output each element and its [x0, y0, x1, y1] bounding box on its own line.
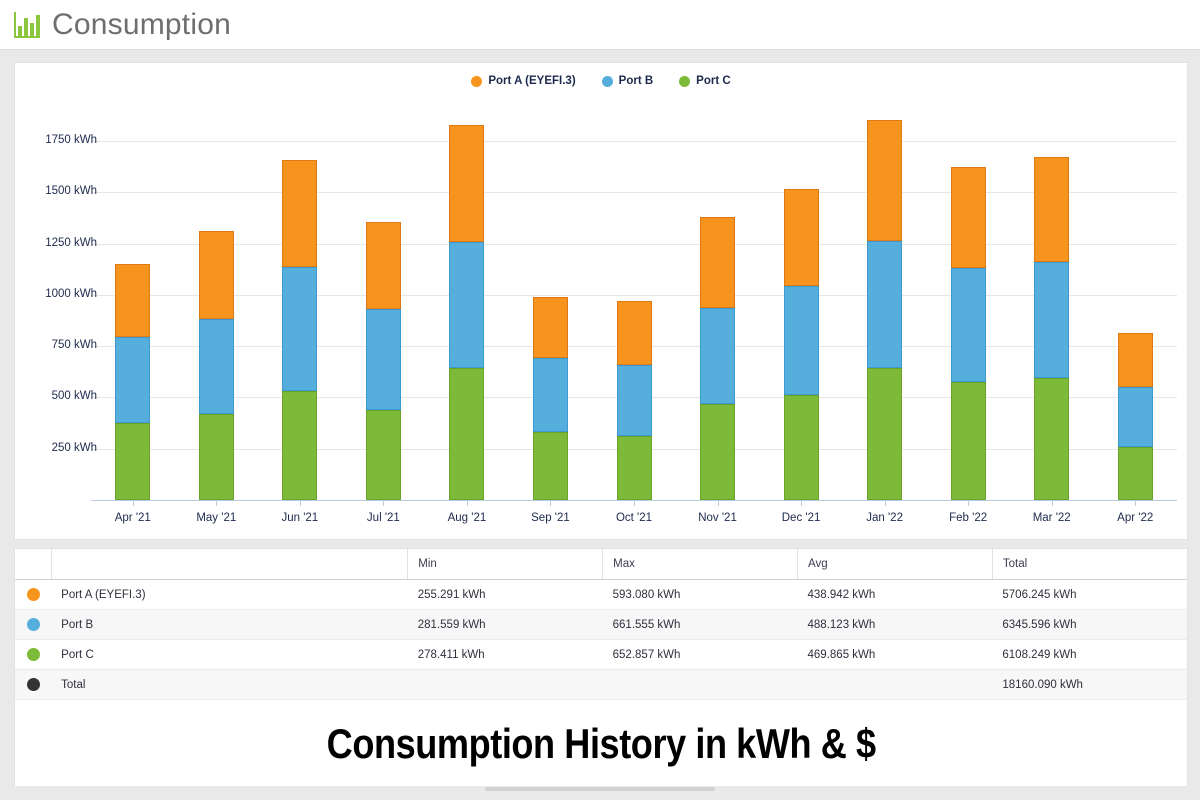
bar-stack[interactable]: [366, 222, 401, 500]
summary-table-card: Min Max Avg Total Port A (EYEFI.3)255.29…: [14, 548, 1188, 703]
bar-segment[interactable]: [784, 189, 819, 287]
bar-stack[interactable]: [282, 160, 317, 500]
row-min-value: [408, 670, 603, 700]
x-axis-tick-label: Aug '21: [448, 512, 487, 524]
bar-segment[interactable]: [366, 309, 401, 410]
bar-segment[interactable]: [617, 301, 652, 365]
bar-segment[interactable]: [784, 286, 819, 395]
row-color-cell: [15, 580, 51, 610]
row-min-value: 281.559 kWh: [408, 610, 603, 640]
series-color-dot-icon: [27, 588, 40, 601]
x-axis-tick: [133, 500, 134, 506]
bar-segment[interactable]: [1118, 333, 1153, 387]
bar-segment[interactable]: [700, 308, 735, 404]
y-axis-tick-label: 1000 kWh: [7, 288, 97, 300]
x-axis-tick-label: Sep '21: [531, 512, 570, 524]
x-axis-tick-label: Mar '22: [1033, 512, 1071, 524]
bar-stack[interactable]: [951, 167, 986, 500]
series-color-dot-icon: [27, 678, 40, 691]
table-row[interactable]: Port A (EYEFI.3)255.291 kWh593.080 kWh43…: [15, 580, 1187, 610]
bar-area: [91, 63, 1177, 500]
bar-segment[interactable]: [449, 242, 484, 368]
x-axis-tick-label: Jul '21: [367, 512, 400, 524]
row-avg-value: 469.865 kWh: [798, 640, 993, 670]
page-root: Consumption Port A (EYEFI.3)Port BPort C…: [0, 0, 1200, 800]
bar-segment[interactable]: [449, 368, 484, 500]
row-series-name: Total: [51, 670, 408, 700]
x-axis-tick: [885, 500, 886, 506]
table-row[interactable]: Port B281.559 kWh661.555 kWh488.123 kWh6…: [15, 610, 1187, 640]
y-axis-tick-label: 1500 kWh: [7, 185, 97, 197]
bar-segment[interactable]: [282, 391, 317, 500]
bar-segment[interactable]: [366, 410, 401, 500]
table-body: Port A (EYEFI.3)255.291 kWh593.080 kWh43…: [15, 580, 1187, 700]
col-header-min: Min: [408, 549, 603, 580]
row-max-value: 593.080 kWh: [603, 580, 798, 610]
x-axis-tick: [634, 500, 635, 506]
x-axis-tick-label: Nov '21: [698, 512, 737, 524]
bar-segment[interactable]: [700, 217, 735, 308]
row-total-value: 5706.245 kWh: [992, 580, 1187, 610]
col-header-color: [15, 549, 51, 580]
bar-stack[interactable]: [199, 231, 234, 500]
bar-segment[interactable]: [199, 231, 234, 319]
bar-segment[interactable]: [533, 297, 568, 358]
col-header-avg: Avg: [798, 549, 993, 580]
x-axis-tick: [300, 500, 301, 506]
x-axis-tick-label: Oct '21: [616, 512, 652, 524]
bar-segment[interactable]: [282, 160, 317, 267]
bar-stack[interactable]: [784, 189, 819, 500]
x-axis-tick: [718, 500, 719, 506]
x-axis-tick-label: Jun '21: [281, 512, 318, 524]
bar-segment[interactable]: [199, 319, 234, 414]
y-axis-tick-label: 500 kWh: [7, 390, 97, 402]
bar-chart-icon: [12, 10, 42, 40]
row-series-name: Port C: [51, 640, 408, 670]
stacked-bar-chart: 250 kWh500 kWh750 kWh1000 kWh1250 kWh150…: [15, 63, 1187, 539]
bar-stack[interactable]: [700, 217, 735, 500]
row-series-name: Port B: [51, 610, 408, 640]
row-min-value: 255.291 kWh: [408, 580, 603, 610]
series-color-dot-icon: [27, 648, 40, 661]
x-axis-tick: [801, 500, 802, 506]
bar-segment[interactable]: [867, 241, 902, 368]
y-axis-tick-label: 750 kWh: [7, 339, 97, 351]
col-header-total: Total: [992, 549, 1187, 580]
bar-segment[interactable]: [617, 436, 652, 500]
bar-segment[interactable]: [951, 167, 986, 269]
bar-segment[interactable]: [617, 365, 652, 436]
table-row[interactable]: Port C278.411 kWh652.857 kWh469.865 kWh6…: [15, 640, 1187, 670]
bar-segment[interactable]: [533, 432, 568, 500]
row-avg-value: 438.942 kWh: [798, 580, 993, 610]
x-axis-tick-label: Apr '22: [1117, 512, 1153, 524]
x-axis-tick: [216, 500, 217, 506]
row-avg-value: [798, 670, 993, 700]
bar-segment[interactable]: [700, 404, 735, 500]
col-header-name: [51, 549, 408, 580]
row-total-value: 6345.596 kWh: [992, 610, 1187, 640]
bar-segment[interactable]: [784, 395, 819, 500]
bar-segment[interactable]: [199, 414, 234, 500]
page-title: Consumption: [52, 8, 231, 42]
y-axis-tick-label: 1250 kWh: [7, 237, 97, 249]
chart-caption: Consumption History in kWh & $: [327, 720, 876, 768]
table-header-row: Min Max Avg Total: [15, 549, 1187, 580]
row-min-value: 278.411 kWh: [408, 640, 603, 670]
x-axis-tick: [968, 500, 969, 506]
table-header: Min Max Avg Total: [15, 549, 1187, 580]
bar-segment[interactable]: [366, 222, 401, 310]
bar-stack[interactable]: [1034, 157, 1069, 500]
bar-segment[interactable]: [867, 120, 902, 241]
x-axis-tick-label: Jan '22: [866, 512, 903, 524]
y-axis-tick-label: 250 kWh: [7, 442, 97, 454]
row-color-cell: [15, 610, 51, 640]
x-axis-tick-label: May '21: [196, 512, 236, 524]
row-total-value: 6108.249 kWh: [992, 640, 1187, 670]
bar-stack[interactable]: [867, 120, 902, 500]
bar-stack[interactable]: [449, 125, 484, 500]
bar-segment[interactable]: [1034, 378, 1069, 500]
bar-segment[interactable]: [533, 358, 568, 431]
bar-stack[interactable]: [115, 264, 150, 500]
x-axis-tick: [467, 500, 468, 506]
row-series-name: Port A (EYEFI.3): [51, 580, 408, 610]
row-max-value: [603, 670, 798, 700]
bar-segment[interactable]: [1118, 387, 1153, 447]
y-axis-tick-label: 1750 kWh: [7, 134, 97, 146]
x-axis-tick-label: Apr '21: [115, 512, 151, 524]
x-axis-tick: [383, 500, 384, 506]
chart-card: Port A (EYEFI.3)Port BPort C 250 kWh500 …: [14, 62, 1188, 540]
x-axis-tick: [1135, 500, 1136, 506]
row-avg-value: 488.123 kWh: [798, 610, 993, 640]
row-total-value: 18160.090 kWh: [992, 670, 1187, 700]
bar-stack[interactable]: [617, 301, 652, 500]
bar-segment[interactable]: [1034, 157, 1069, 263]
bar-segment[interactable]: [115, 264, 150, 336]
bar-stack[interactable]: [533, 297, 568, 500]
caption-area: Consumption History in kWh & $: [14, 701, 1188, 787]
row-max-value: 652.857 kWh: [603, 640, 798, 670]
x-axis-tick: [1052, 500, 1053, 506]
row-color-cell: [15, 670, 51, 700]
bar-segment[interactable]: [867, 368, 902, 500]
series-color-dot-icon: [27, 618, 40, 631]
bar-segment[interactable]: [951, 268, 986, 382]
x-axis-tick-label: Dec '21: [782, 512, 821, 524]
page-header: Consumption: [0, 0, 1200, 50]
bar-segment[interactable]: [115, 337, 150, 423]
col-header-max: Max: [603, 549, 798, 580]
table-row[interactable]: Total18160.090 kWh: [15, 670, 1187, 700]
bar-segment[interactable]: [449, 125, 484, 241]
bar-segment[interactable]: [951, 382, 986, 500]
bar-segment[interactable]: [282, 267, 317, 391]
x-axis-tick-label: Feb '22: [949, 512, 987, 524]
bar-segment[interactable]: [1118, 447, 1153, 500]
row-color-cell: [15, 640, 51, 670]
row-max-value: 661.555 kWh: [603, 610, 798, 640]
bar-segment[interactable]: [1034, 262, 1069, 378]
horizontal-scrollbar[interactable]: [485, 787, 715, 791]
bar-stack[interactable]: [1118, 333, 1153, 500]
summary-table: Min Max Avg Total Port A (EYEFI.3)255.29…: [15, 549, 1187, 700]
x-axis-tick: [550, 500, 551, 506]
bar-segment[interactable]: [115, 423, 150, 500]
